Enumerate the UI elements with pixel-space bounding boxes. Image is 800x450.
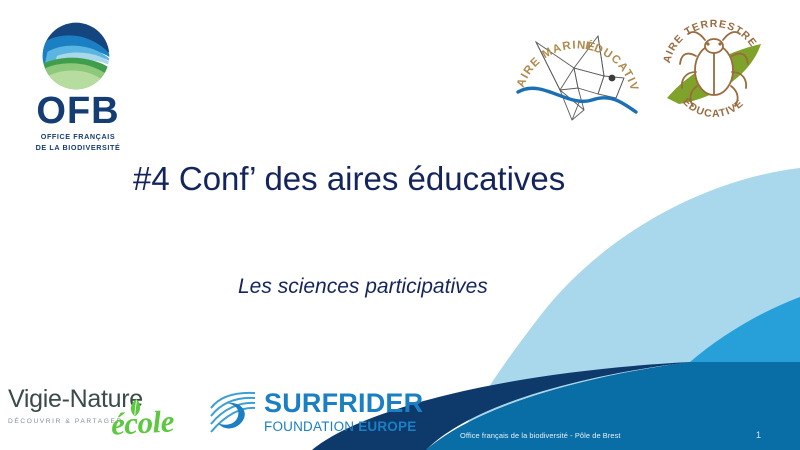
footer-organization-text: Office français de la biodiversité - Pôl… <box>460 431 621 440</box>
ofb-emblem-icon <box>42 22 110 90</box>
aire-terrestre-educative-logo: AIRE TERRESTRE ÉDUCATIVE <box>655 14 773 128</box>
slide-subtitle: Les sciences participatives <box>238 275 488 299</box>
presentation-slide: OFB OFFICE FRANÇAIS DE LA BIODIVERSITÉ <box>0 0 800 450</box>
vigie-nature-ecole-logo: Vigie-Nature DÉCOUVRIR & PARTAGER école <box>8 386 203 446</box>
wave-mid-blue-shape <box>690 297 800 362</box>
vigie-nature-wordmark: Vigie-Nature <box>8 386 203 413</box>
slide-title: #4 Conf’ des aires éducatives <box>133 160 565 198</box>
surfrider-foundation-word: FOUNDATION <box>264 419 358 434</box>
ame-text-bottom: ÉDUCATIVE <box>512 16 640 93</box>
ofb-wordmark: OFB OFFICE FRANÇAIS DE LA BIODIVERSITÉ <box>18 92 138 152</box>
surfrider-europe-word: EUROPE <box>358 419 416 434</box>
aire-marine-educative-logo: AIRE MARINE ÉDUCATIVE <box>512 16 642 126</box>
surfrider-wave-icon <box>210 391 256 437</box>
ofb-letters: OFB <box>18 92 138 130</box>
wave-light-blue-shape <box>455 168 800 450</box>
ate-text-bottom: ÉDUCATIVE <box>680 95 746 120</box>
surfrider-foundation-europe-logo: SURFRIDER FOUNDATION EUROPE <box>210 389 400 441</box>
ofb-logo: OFB OFFICE FRANÇAIS DE LA BIODIVERSITÉ <box>18 22 138 152</box>
surfrider-name: SURFRIDER <box>264 389 423 418</box>
surfrider-subtitle: FOUNDATION EUROPE <box>264 419 423 434</box>
ecole-script-wordmark: école <box>110 403 175 442</box>
ofb-subtitle-line1: OFFICE FRANÇAIS <box>18 132 138 141</box>
surfrider-wordmark: SURFRIDER FOUNDATION EUROPE <box>264 389 423 434</box>
slide-page-number: 1 <box>756 430 761 440</box>
ofb-subtitle-line2: DE LA BIODIVERSITÉ <box>18 143 138 152</box>
